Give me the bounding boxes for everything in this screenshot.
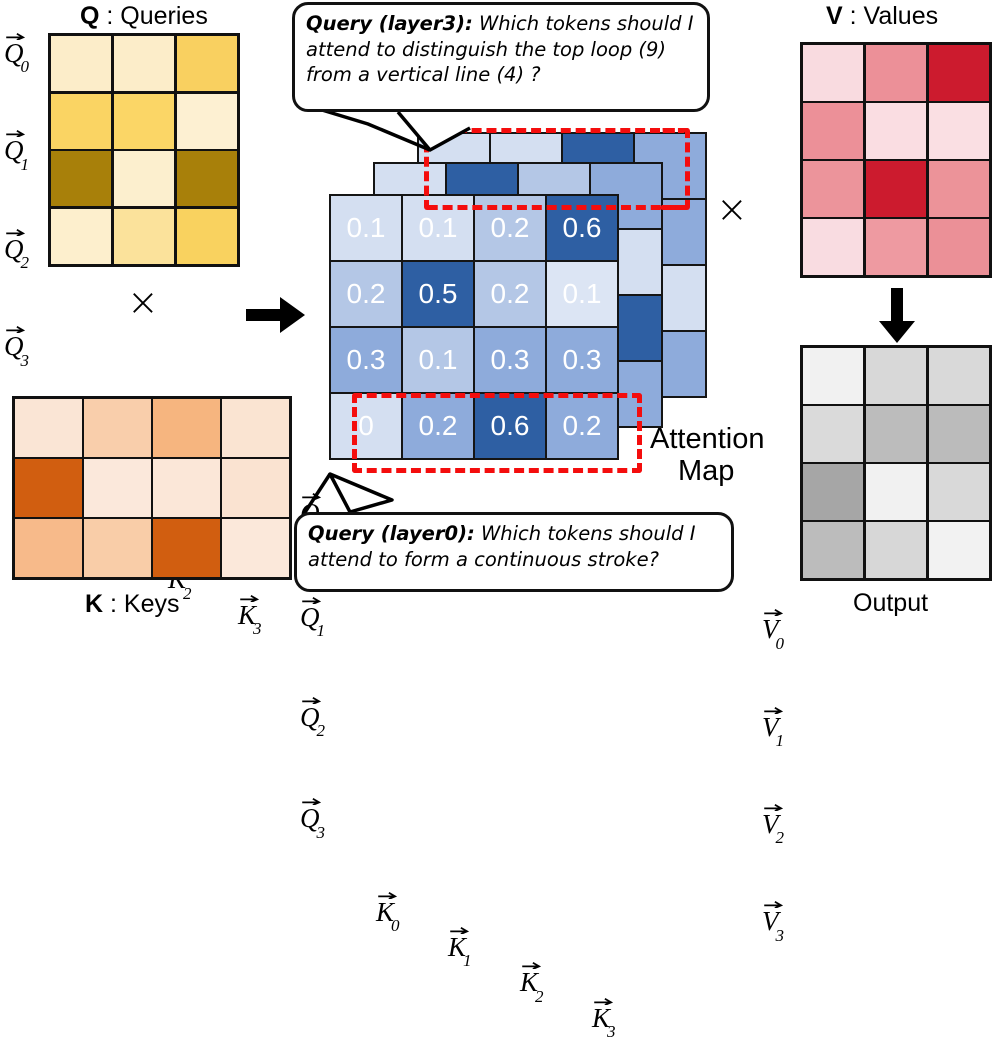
attention-front-value-cell: 0.6 [473,392,548,461]
queries-matrix-cell [177,209,237,264]
keys-matrix-cell [222,519,289,577]
keys-matrix-cell [153,519,220,577]
output-matrix-cell [866,464,926,520]
output-matrix-cell [929,348,989,404]
attention-front-value-cell: 0.2 [473,260,548,329]
keys-title-symbol: K [85,590,103,618]
keys-matrix-cell [153,399,220,457]
values-row-label-1: V1 [762,712,996,747]
queries-row-label-3-subscript: 3 [21,351,30,370]
attention-col-label-0-subscript: 0 [391,916,400,935]
output-matrix [800,345,992,581]
values-matrix-cell [866,161,926,217]
queries-matrix-cell [114,94,174,149]
values-title-text: : Values [843,2,938,30]
queries-title-text: : Queries [99,2,207,30]
attention-col-label-2: K2 [520,967,996,1002]
values-title-symbol: V [826,2,843,30]
keys-matrix-cell [84,459,151,517]
attention-row-label-1-subscript: 1 [317,621,326,640]
values-row-label-2: V2 [762,809,996,844]
values-matrix-cell [803,103,863,159]
output-title: Output [853,591,928,616]
keys-matrix-cell [153,459,220,517]
attention-diagram-canvas: Q : Queries Q0Q1Q2Q3 × K0K1K2K3 K : Keys… [0,0,996,629]
attention-front-value-cell: 0.3 [545,326,620,395]
queries-matrix-cell [51,151,111,206]
queries-matrix-cell [51,94,111,149]
callout-layer3: Query (layer3): Which tokens should I at… [292,2,710,112]
values-matrix-cell [929,219,989,275]
values-title: V : Values [826,4,938,29]
output-matrix-cell [803,522,863,578]
keys-matrix-cell [15,519,82,577]
output-matrix-cell [866,522,926,578]
attention-row-label-3-subscript: 3 [317,823,326,842]
queries-matrix-cell [177,36,237,91]
keys-title-text: : Keys [103,590,179,618]
values-matrix-cell [803,45,863,101]
arrow-right-icon [246,296,306,334]
attention-front-value-cell: 0.2 [473,194,548,263]
keys-matrix-cell [84,399,151,457]
values-matrix-cell [866,103,926,159]
output-matrix-cell [929,464,989,520]
values-matrix-cell [929,103,989,159]
values-matrix-cell [866,219,926,275]
keys-matrix-cell [222,459,289,517]
output-matrix-cell [866,406,926,462]
attention-front-value-cell: 0.1 [401,326,476,395]
queries-matrix-cell [114,36,174,91]
callout-layer3-lead: Query (layer3): [306,12,473,35]
callout-layer0: Query (layer0): Which tokens should I at… [294,512,734,592]
multiply-q-k-icon: × [127,283,159,321]
values-matrix-cell [803,161,863,217]
values-matrix-cell [929,45,989,101]
attention-front-value-cell: 0.1 [545,260,620,329]
attention-front-value-cell: 0.2 [545,392,620,461]
output-matrix-cell [803,348,863,404]
values-matrix-cell [803,219,863,275]
attention-col-label-3: K3 [592,1003,996,1038]
keys-matrix-cell [84,519,151,577]
values-matrix-cell [866,45,926,101]
arrow-down-icon [878,288,916,344]
keys-title: K : Keys [85,592,179,617]
queries-matrix-cell [51,36,111,91]
attention-front-value-cell: 0 [329,392,404,461]
queries-title: Q : Queries [80,4,208,29]
output-matrix-cell [929,406,989,462]
attention-map-label-line1: Attention [650,425,764,454]
values-row-label-3: V3 [762,906,996,941]
queries-matrix-cell [114,151,174,206]
queries-matrix-cell [114,209,174,264]
attention-col-label-3-subscript: 3 [607,1022,616,1041]
attention-front-value-cell: 0.2 [401,392,476,461]
queries-matrix-cell [177,151,237,206]
values-row-label-3-subscript: 3 [776,926,785,945]
attention-map-label-line2: Map [678,457,734,486]
attention-col-label-1-subscript: 1 [463,951,472,970]
output-matrix-cell [803,464,863,520]
multiply-attn-v-icon: × [716,190,748,228]
queries-row-label-2-subscript: 2 [21,253,30,272]
queries-matrix [48,33,240,267]
attention-map-layer-front: 0.10.10.20.60.20.50.20.10.30.10.30.300.2… [330,195,618,459]
queries-row-label-0-subscript: 0 [21,57,30,76]
keys-matrix-cell [222,399,289,457]
values-row-label-1-subscript: 1 [776,731,785,750]
attention-front-value-cell: 0.3 [473,326,548,395]
attention-front-value-cell: 0.1 [401,194,476,263]
callout-layer0-lead: Query (layer0): [308,522,475,545]
attention-front-value-cell: 0.6 [545,194,620,263]
values-row-label-0-subscript: 0 [776,634,785,653]
attention-front-value-cell: 0.5 [401,260,476,329]
attention-col-label-2-subscript: 2 [535,987,544,1006]
keys-matrix-cell [15,399,82,457]
values-matrix-cell [929,161,989,217]
queries-matrix-cell [177,94,237,149]
attention-front-value-cell: 0.3 [329,326,404,395]
queries-title-symbol: Q [80,2,99,30]
values-row-label-2-subscript: 2 [776,828,785,847]
keys-matrix [12,396,292,580]
attention-front-value-cell: 0.1 [329,194,404,263]
attention-row-label-2-subscript: 2 [317,721,326,740]
output-matrix-cell [929,522,989,578]
queries-matrix-cell [51,209,111,264]
output-matrix-cell [866,348,926,404]
values-matrix [800,42,992,278]
attention-front-value-cell: 0.2 [329,260,404,329]
queries-row-label-1-subscript: 1 [21,155,30,174]
output-matrix-cell [803,406,863,462]
values-row-label-0: V0 [762,614,996,649]
keys-col-label-2-subscript: 2 [183,584,192,603]
keys-matrix-cell [15,459,82,517]
